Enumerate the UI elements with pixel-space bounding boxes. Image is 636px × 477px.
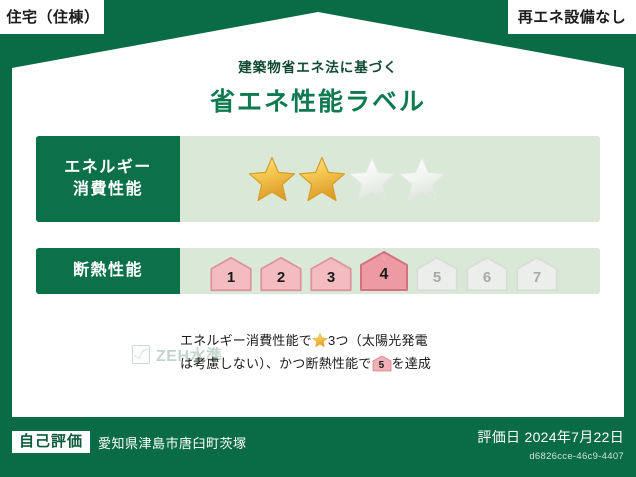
row-insulation-label-line1: 断熱性能 [73, 260, 143, 282]
document-id: d6826cce-46c9-4407 [477, 451, 624, 462]
star-filled-icon [298, 155, 346, 203]
star-empty-icon [348, 155, 396, 203]
inline-star-icon [312, 332, 328, 348]
row-insulation-performance: 断熱性能 1234567 [36, 248, 600, 294]
evaluation-date: 評価日 2024年7月22日 [477, 427, 624, 447]
row-energy-label-line1: エネルギー [64, 157, 152, 179]
zeh-checkbox-icon [132, 345, 150, 364]
star-filled-icon [248, 155, 296, 203]
zeh-desc-line1-a: エネルギー消費性能で [180, 333, 312, 348]
property-address: 愛知県津島市唐臼町茨塚 [98, 433, 247, 452]
insulation-grade-6: 6 [464, 256, 510, 292]
star-rating [248, 155, 446, 203]
row-energy-label: エネルギー 消費性能 [36, 136, 180, 222]
zeh-standard-block: ZEH水準 エネルギー消費性能で 3つ（太陽光発電 は考慮しない）、かつ断熱性能… [36, 330, 600, 376]
footer: 自己評価 愛知県津島市唐臼町茨塚 評価日 2024年7月22日 d6826cce… [0, 417, 636, 477]
row-energy-value [180, 136, 600, 222]
zeh-desc-star-count: 3つ（太陽光発電 [328, 333, 428, 348]
footer-right: 評価日 2024年7月22日 d6826cce-46c9-4407 [477, 427, 624, 462]
insulation-grade-7: 7 [514, 256, 560, 292]
self-evaluation-badge: 自己評価 [12, 431, 90, 453]
tag-renewable-equipment: 再エネ設備なし [508, 0, 636, 34]
zeh-description: エネルギー消費性能で 3つ（太陽光発電 は考慮しない）、かつ断熱性能で [164, 330, 600, 376]
insulation-grade-3: 3 [308, 256, 354, 292]
row-insulation-label: 断熱性能 [36, 248, 180, 294]
row-insulation-value: 1234567 [180, 248, 600, 294]
star-empty-icon [398, 155, 446, 203]
insulation-grade-5: 5 [414, 256, 460, 292]
energy-performance-label: 住宅（住棟） 再エネ設備なし 建築物省エネ法に基づく 省エネ性能ラベル エネルギ… [0, 0, 636, 477]
inline-house-badge: 5 [372, 355, 392, 372]
footer-left: 自己評価 愛知県津島市唐臼町茨塚 [12, 431, 247, 453]
insulation-grade-scale: 1234567 [208, 250, 560, 292]
insulation-grade-4: 4 [358, 250, 410, 292]
insulation-grade-2: 2 [258, 256, 304, 292]
inline-house-badge-num: 5 [372, 361, 392, 371]
row-energy-label-line2: 消費性能 [73, 179, 143, 201]
zeh-desc-line2-a: は考慮しない）、かつ断熱性能で [180, 356, 372, 371]
zeh-desc-line2-b: を達成 [392, 356, 432, 371]
insulation-grade-1: 1 [208, 256, 254, 292]
row-energy-performance: エネルギー 消費性能 [36, 136, 600, 222]
tag-building-type: 住宅（住棟） [0, 0, 104, 34]
zeh-mark: ZEH水準 [36, 330, 164, 366]
